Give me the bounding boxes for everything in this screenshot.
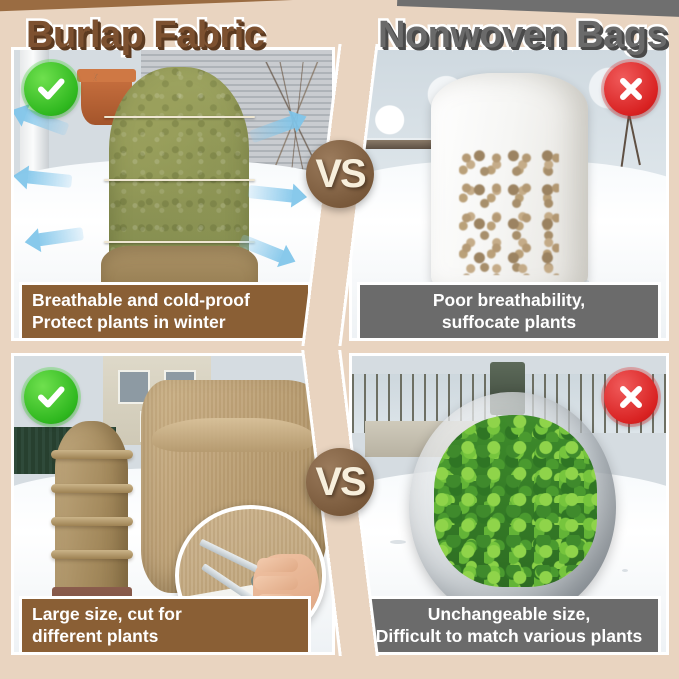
green-bush (434, 415, 597, 587)
caption-line-2: Protect plants in winter (32, 312, 298, 333)
top-banner-strip-left (0, 0, 401, 12)
comparison-infographic: Burlap Fabric Nonwoven Bags VS VS Breath… (0, 0, 679, 679)
wrapped-shrub (109, 67, 249, 309)
cross-icon (604, 62, 658, 116)
caption-burlap-size: Large size, cut for different plants (22, 599, 308, 652)
cross-icon (604, 370, 658, 424)
sheet-fold (152, 418, 314, 452)
caption-line-2: suffocate plants (442, 312, 576, 333)
caption-nonwoven-breathability: Poor breathability, suffocate plants (360, 285, 658, 338)
caption-line-1: Poor breathability, (433, 290, 585, 311)
caption-nonwoven-size: Unchangeable size, Difficult to match va… (360, 599, 658, 652)
caption-line-2: Difficult to match various plants (376, 626, 642, 647)
browned-leaves (459, 149, 559, 275)
caption-burlap-breathability: Breathable and cold-proof Protect plants… (22, 285, 308, 338)
check-icon (24, 370, 78, 424)
vs-label: VS (315, 154, 364, 194)
nonwoven-bag (431, 73, 588, 298)
caption-line-1: Large size, cut for (32, 604, 298, 625)
caption-line-1: Unchangeable size, (428, 604, 590, 625)
caption-line-1: Breathable and cold-proof (32, 290, 298, 311)
vs-badge-top: VS (306, 140, 374, 208)
caption-line-2: different plants (32, 626, 298, 647)
vs-badge-bottom: VS (306, 448, 374, 516)
top-banner-strip-right (397, 0, 679, 18)
twine-tie (104, 179, 255, 181)
pot-twigs (91, 73, 101, 81)
burlap-wrapped-plant (55, 421, 128, 605)
check-icon (24, 62, 78, 116)
twine-tie (104, 116, 255, 118)
vs-label: VS (315, 462, 364, 502)
